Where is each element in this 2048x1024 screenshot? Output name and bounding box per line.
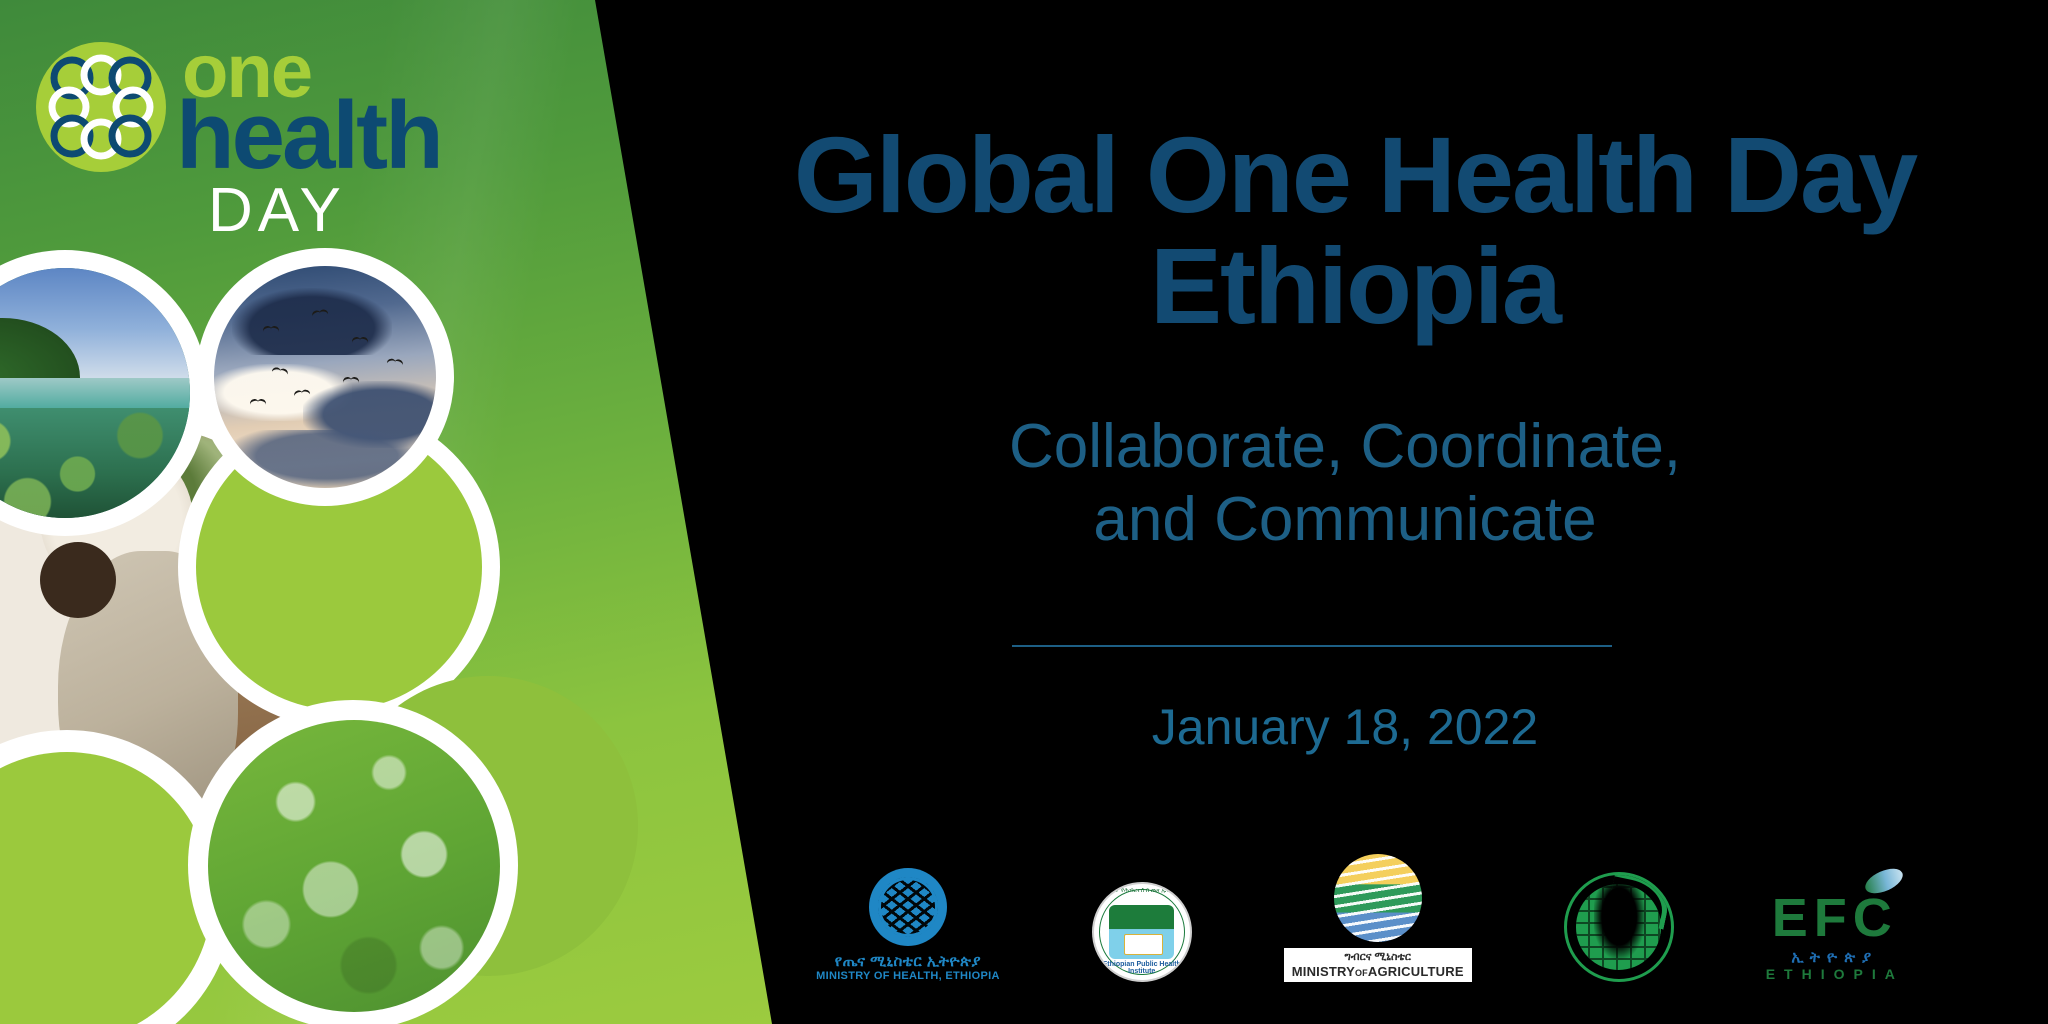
page-subtitle: Collaborate, Coordinate, and Communicate	[700, 410, 1990, 556]
ephi-seal-icon: የኢትዮጵያ የሕብረተሰብ ጤና ኢንስቲትዩት Ethiopian Publ…	[1092, 882, 1192, 982]
bird-icon	[263, 326, 279, 333]
bird-icon	[294, 389, 311, 398]
title-line-2: Ethiopia	[700, 231, 2010, 341]
migrating-birds-sky-photo	[214, 266, 436, 488]
coral-reef-island-photo	[0, 268, 190, 518]
partner-name-plate: ግብርና ሚኒስቴር MINISTRYOFAGRICULTURE	[1284, 948, 1472, 982]
title-line-1: Global One Health Day	[794, 114, 1916, 235]
partner-logo-ephi: የኢትዮጵያ የሕብረተሰብ ጤና ኢንስቲትዩት Ethiopian Publ…	[1092, 882, 1192, 982]
bird-icon	[343, 377, 359, 384]
bird-icon	[352, 337, 368, 344]
subtitle-line-2: and Communicate	[700, 483, 1990, 556]
herder-head	[40, 542, 117, 619]
seal-text-english: Ethiopian Public Health Institute	[1094, 961, 1190, 975]
bird-icon	[271, 367, 288, 377]
subtitle-line-1: Collaborate, Coordinate,	[1009, 412, 1681, 481]
wildlife-globe-icon	[1564, 872, 1674, 982]
cloud-1	[232, 288, 392, 355]
partner-logo-ewca	[1564, 872, 1674, 982]
logo-word-day: DAY	[208, 180, 346, 242]
cloud-4	[227, 430, 427, 488]
reef-layer	[0, 408, 190, 518]
sun-field-water-icon	[1334, 854, 1422, 942]
partner-name-amharic: ኢትዮጵያ	[1791, 949, 1878, 966]
partner-name-amharic: የጤና ሚኒስቴር ኢትዮጵያ	[835, 953, 981, 970]
one-health-flower-icon	[36, 42, 166, 172]
partner-name-english: ETHIOPIA	[1766, 966, 1904, 982]
divider	[1012, 645, 1612, 647]
partner-logos-row: የጤና ሚኒስቴር ኢትዮጵያ MINISTRY OF HEALTH, ETHI…	[660, 832, 2048, 982]
event-date: January 18, 2022	[700, 698, 1990, 756]
efccc-letter-glyphs: EFC	[1772, 888, 1898, 948]
partner-logo-ministry-of-agriculture: ግብርና ሚኒስቴር MINISTRYOFAGRICULTURE	[1284, 854, 1472, 982]
partner-logo-ministry-of-health: የጤና ሚኒስቴር ኢትዮጵያ MINISTRY OF HEALTH, ETHI…	[816, 868, 1000, 982]
poster-canvas: one health DAY Global One Health Day Eth…	[0, 0, 2048, 1024]
bird-icon	[311, 309, 328, 318]
moa-word-ministry: MINISTRY	[1292, 964, 1355, 979]
content-column: Global One Health Day Ethiopia Collabora…	[700, 0, 2048, 1024]
seal-text-amharic: የኢትዮጵያ የሕብረተሰብ ጤና ኢንስቲትዩት	[1094, 888, 1190, 895]
partner-name-amharic: ግብርና ሚኒስቴር	[1292, 951, 1464, 964]
cells-texture	[208, 720, 500, 1012]
page-title: Global One Health Day Ethiopia	[700, 120, 2010, 340]
efccc-letters: EFC	[1772, 891, 1898, 945]
partner-logo-efccc: EFC ኢትዮጵያ ETHIOPIA	[1766, 891, 1904, 982]
microscopy-cells-photo	[208, 720, 500, 1012]
bird-icon	[387, 358, 404, 367]
partner-name-english: MINISTRY OF HEALTH, ETHIOPIA	[816, 970, 1000, 982]
one-health-day-logo: one health DAY	[30, 28, 460, 218]
partner-name-english: MINISTRYOFAGRICULTURE	[1292, 964, 1464, 979]
woven-globe-icon	[869, 868, 947, 946]
open-book-icon	[1124, 934, 1162, 955]
bird-icon	[250, 399, 266, 406]
moa-word-agriculture: AGRICULTURE	[1368, 964, 1464, 979]
moa-word-of: OF	[1355, 968, 1368, 978]
logo-word-health: health	[176, 88, 441, 184]
